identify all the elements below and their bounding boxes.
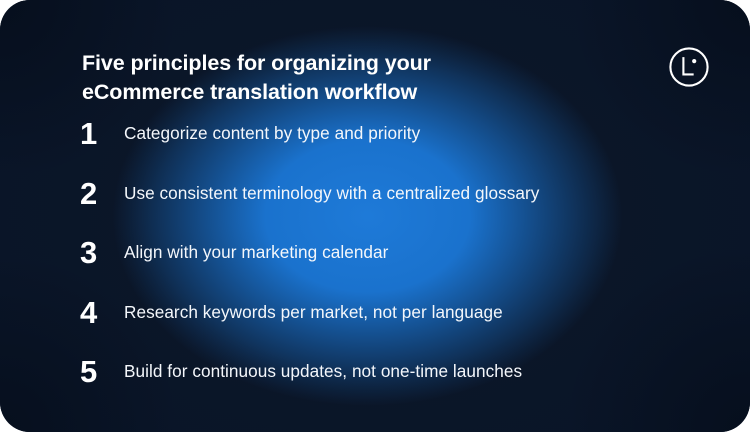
list-item-number: 2 — [80, 178, 118, 209]
list-item-number: 4 — [80, 297, 118, 328]
list-item-number: 5 — [80, 356, 118, 387]
card-content: Five principles for organizing your eCom… — [0, 0, 750, 432]
principles-card: Five principles for organizing your eCom… — [0, 0, 750, 432]
list-item: 1 Categorize content by type and priorit… — [0, 104, 750, 164]
page-title-line-2: eCommerce translation workflow — [82, 78, 562, 106]
list-item-number: 3 — [80, 237, 118, 268]
list-item-label: Research keywords per market, not per la… — [124, 302, 720, 323]
page-title-line-1: Five principles for organizing your — [82, 49, 562, 77]
list-item: 3 Align with your marketing calendar — [0, 223, 750, 283]
brand-logo — [668, 46, 710, 88]
list-item: 2 Use consistent terminology with a cent… — [0, 164, 750, 224]
list-item-label: Use consistent terminology with a centra… — [124, 183, 720, 204]
list-item-number: 1 — [80, 118, 118, 149]
list-item: 5 Build for continuous updates, not one-… — [0, 342, 750, 402]
principles-list: 1 Categorize content by type and priorit… — [0, 104, 750, 402]
list-item-label: Categorize content by type and priority — [124, 123, 720, 144]
list-item: 4 Research keywords per market, not per … — [0, 283, 750, 343]
page-title: Five principles for organizing your eCom… — [82, 49, 562, 106]
list-item-label: Align with your marketing calendar — [124, 242, 720, 263]
list-item-label: Build for continuous updates, not one-ti… — [124, 361, 720, 382]
